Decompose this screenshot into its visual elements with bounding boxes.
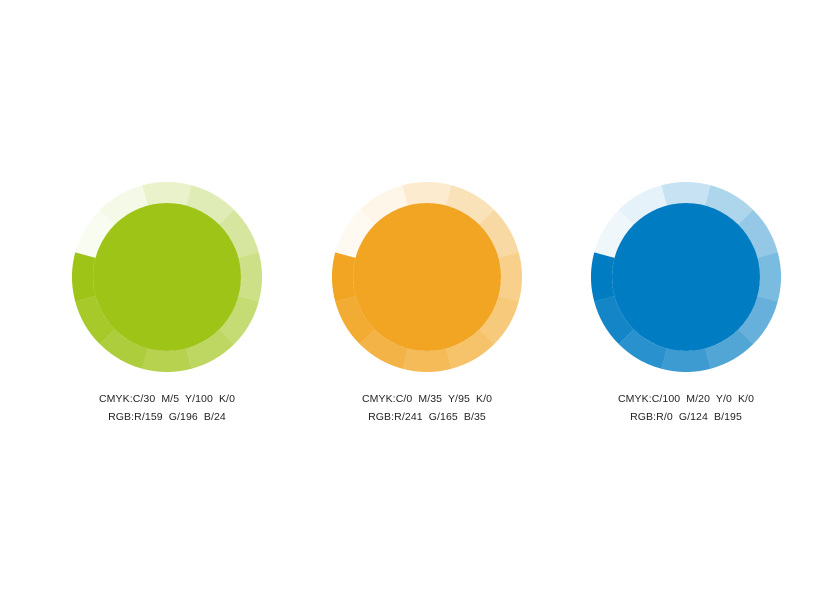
spec-block-orange: CMYK:C/0 M/35 Y/95 K/0RGB:R/241 G/165 B/… xyxy=(297,390,557,426)
swatch-group-orange: CMYK:C/0 M/35 Y/95 K/0RGB:R/241 G/165 B/… xyxy=(297,182,557,426)
inner-disc-orange xyxy=(353,203,501,351)
inner-disc-green xyxy=(93,203,241,351)
palette-board: CMYK:C/30 M/5 Y/100 K/0RGB:R/159 G/196 B… xyxy=(0,0,838,597)
rgb-label-green: RGB:R/159 G/196 B/24 xyxy=(37,408,297,426)
spec-block-green: CMYK:C/30 M/5 Y/100 K/0RGB:R/159 G/196 B… xyxy=(37,390,297,426)
color-wheel-svg-orange xyxy=(332,182,522,372)
ring-segment-blue-1 xyxy=(661,182,710,206)
ring-segment-orange-4 xyxy=(498,252,522,301)
ring-segment-blue-7 xyxy=(661,348,710,372)
ring-segment-blue-4 xyxy=(757,252,781,301)
ring-segment-orange-10 xyxy=(332,252,356,301)
spec-block-blue: CMYK:C/100 M/20 Y/0 K/0RGB:R/0 G/124 B/1… xyxy=(556,390,816,426)
cmyk-label-blue: CMYK:C/100 M/20 Y/0 K/0 xyxy=(556,390,816,408)
color-wheel-svg-green xyxy=(72,182,262,372)
swatch-group-blue: CMYK:C/100 M/20 Y/0 K/0RGB:R/0 G/124 B/1… xyxy=(556,182,816,426)
rgb-label-blue: RGB:R/0 G/124 B/195 xyxy=(556,408,816,426)
ring-segment-green-7 xyxy=(142,348,191,372)
ring-segment-green-1 xyxy=(142,182,191,206)
color-wheel-orange xyxy=(332,182,522,372)
cmyk-label-orange: CMYK:C/0 M/35 Y/95 K/0 xyxy=(297,390,557,408)
color-wheel-green xyxy=(72,182,262,372)
color-wheel-blue xyxy=(591,182,781,372)
ring-segment-green-4 xyxy=(238,252,262,301)
swatch-group-green: CMYK:C/30 M/5 Y/100 K/0RGB:R/159 G/196 B… xyxy=(37,182,297,426)
ring-segment-blue-10 xyxy=(591,252,615,301)
inner-disc-blue xyxy=(612,203,760,351)
rgb-label-orange: RGB:R/241 G/165 B/35 xyxy=(297,408,557,426)
ring-segment-green-10 xyxy=(72,252,96,301)
color-wheel-svg-blue xyxy=(591,182,781,372)
ring-segment-orange-7 xyxy=(402,348,451,372)
ring-segment-orange-1 xyxy=(402,182,451,206)
cmyk-label-green: CMYK:C/30 M/5 Y/100 K/0 xyxy=(37,390,297,408)
